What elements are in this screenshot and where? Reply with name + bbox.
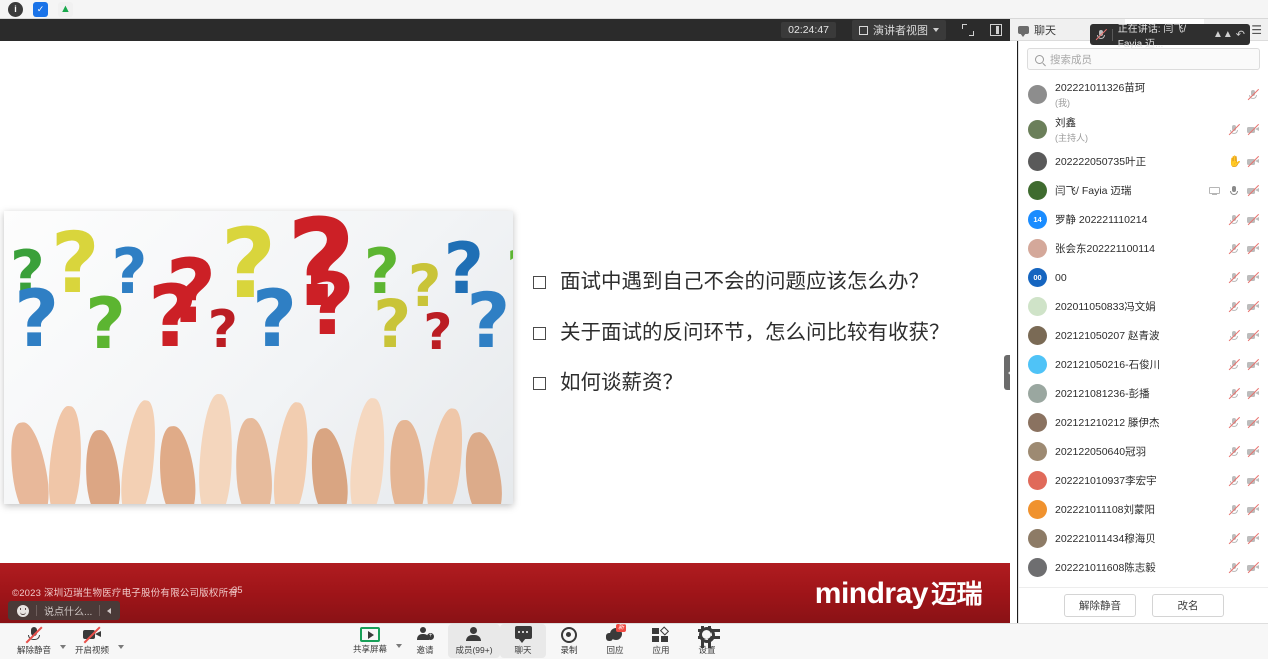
participant-row[interactable]: 202221011608陈志毅	[1019, 553, 1268, 582]
back-arrow-icon[interactable]: ↶	[1236, 28, 1245, 41]
camera-off-icon[interactable]	[1247, 330, 1259, 342]
avatar	[1028, 529, 1047, 548]
signal-bars-icon[interactable]: ▲	[58, 2, 73, 17]
search-placeholder: 搜索成员	[1050, 52, 1092, 67]
search-icon	[1035, 55, 1044, 64]
reaction-icon: 新	[606, 627, 624, 643]
search-participants-input[interactable]: 搜索成员	[1027, 48, 1260, 70]
participant-row[interactable]: 刘鑫(主持人)	[1019, 112, 1268, 147]
participant-row[interactable]: 闫飞/ Fayia 迈瑞	[1019, 176, 1268, 205]
raise-hand-icon[interactable]: ✋	[1228, 156, 1240, 168]
participant-status-icons	[1228, 214, 1259, 226]
fullscreen-button[interactable]	[954, 21, 982, 39]
avatar	[1028, 152, 1047, 171]
emoji-button[interactable]	[10, 601, 36, 620]
participant-name: 闫飞/ Fayia 迈瑞	[1055, 183, 1201, 198]
meeting-timer: 02:24:47	[773, 21, 844, 39]
participant-name: 202221011326苗珂	[1055, 80, 1239, 95]
camera-off-icon[interactable]	[1247, 359, 1259, 371]
view-mode-icon	[859, 26, 868, 35]
avatar	[1028, 558, 1047, 577]
participant-status-icons	[1228, 124, 1259, 136]
logo-cn-text: 迈瑞	[931, 574, 982, 611]
participant-row[interactable]: 202011050833冯文娟	[1019, 292, 1268, 321]
toolbar-center-group: 共享屏幕 + 邀请 成员(99+) 聊天 录制 新	[344, 624, 730, 658]
bullet-item: 面试中遇到自己不会的问题应该怎么办？	[533, 269, 983, 295]
chat-icon	[515, 626, 532, 639]
mic-muted-icon[interactable]	[1228, 533, 1240, 545]
timer-value: 02:24:47	[781, 22, 836, 38]
participant-row[interactable]: 202121050216-石俊川	[1019, 350, 1268, 379]
participant-row[interactable]: 202121210212 滕伊杰	[1019, 408, 1268, 437]
tab-chat[interactable]: 聊天	[1010, 19, 1064, 41]
camera-off-icon[interactable]	[1247, 243, 1259, 255]
participant-info: 202011050833冯文娟	[1055, 299, 1220, 314]
camera-off-icon[interactable]	[1247, 562, 1259, 574]
avatar	[1028, 471, 1047, 490]
participant-name: 202121210212 滕伊杰	[1055, 415, 1220, 430]
participant-status-icons	[1228, 504, 1259, 516]
participant-role: (主持人)	[1055, 131, 1220, 144]
rename-button[interactable]: 改名	[1152, 594, 1224, 617]
participant-info: 202221011108刘蒙阳	[1055, 502, 1220, 517]
slide-footer: ©2023 深圳迈瑞生物医疗电子股份有限公司版权所有 35 mindray 迈瑞	[0, 563, 1010, 623]
new-badge: 新	[616, 624, 626, 632]
camera-off-icon[interactable]	[1247, 214, 1259, 226]
participant-status-icons	[1228, 272, 1259, 284]
slide-page-number: 35	[232, 585, 243, 596]
expand-icon	[962, 24, 974, 36]
participants-panel: 搜索成员 202221011326苗珂(我)刘鑫(主持人)20222205073…	[1018, 41, 1268, 623]
settings-gear-icon	[698, 627, 716, 643]
participant-status-icons	[1228, 562, 1259, 574]
view-mode-label: 演讲者视图	[873, 22, 928, 38]
meeting-toolbar: 解除静音 开启视频 共享屏幕 + 邀请 成员(99+)	[0, 623, 1268, 659]
share-screen-icon[interactable]	[1209, 185, 1221, 197]
participant-row[interactable]: 14罗静 202221110214	[1019, 205, 1268, 234]
camera-off-icon[interactable]	[1247, 185, 1259, 197]
avatar	[1028, 326, 1047, 345]
record-label: 录制	[560, 644, 577, 656]
split-view-icon	[990, 24, 1002, 36]
avatar	[1028, 355, 1047, 374]
bullet-item: 如何谈薪资？	[533, 370, 983, 396]
video-toggle-button[interactable]: 开启视频	[66, 625, 118, 659]
avatar	[1028, 384, 1047, 403]
active-speaker-banner: 正在讲话: 闫飞/ Fayia 迈... ▲▲ ↶	[1090, 24, 1250, 45]
participant-name: 202221011108刘蒙阳	[1055, 502, 1220, 517]
participant-info: 202221011434穆海贝	[1055, 531, 1220, 546]
reaction-button[interactable]: 新 回应	[592, 624, 638, 658]
participant-name: 张会东202221100114	[1055, 241, 1220, 256]
participant-name: 202222050735叶正	[1055, 154, 1220, 169]
participant-row[interactable]: 张会东202221100114	[1019, 234, 1268, 263]
camera-off-icon[interactable]	[1247, 446, 1259, 458]
share-screen-button[interactable]: 共享屏幕	[344, 624, 396, 658]
camera-off-icon[interactable]	[1247, 156, 1259, 168]
avatar	[1028, 181, 1047, 200]
mic-muted-icon[interactable]	[1247, 89, 1259, 101]
participant-name: 00	[1055, 272, 1220, 284]
participant-role: (我)	[1055, 96, 1239, 109]
participant-status-icons	[1228, 243, 1259, 255]
chevron-down-icon[interactable]	[933, 28, 939, 32]
participant-name: 202121050216-石俊川	[1055, 357, 1220, 372]
avatar	[1028, 85, 1047, 104]
participant-info: 202221011608陈志毅	[1055, 560, 1220, 575]
participant-info: 罗静 202221110214	[1055, 212, 1220, 227]
bullet-text: 关于面试的反问环节，怎么问比较有收获？	[560, 320, 950, 346]
avatar: 00	[1028, 268, 1047, 287]
mic-muted-icon[interactable]	[1228, 388, 1240, 400]
mic-muted-icon[interactable]	[1228, 330, 1240, 342]
participant-name: 202221011434穆海贝	[1055, 531, 1220, 546]
smiley-icon	[17, 605, 29, 617]
participant-name: 202221010937李宏宇	[1055, 473, 1220, 488]
participant-info: 202221011326苗珂(我)	[1055, 80, 1239, 109]
participant-info: 202121210212 滕伊杰	[1055, 415, 1220, 430]
participant-status-icons	[1228, 446, 1259, 458]
participant-row[interactable]: 202221011326苗珂(我)	[1019, 77, 1268, 112]
mic-muted-icon[interactable]	[1228, 417, 1240, 429]
toolbar-left-group: 解除静音 开启视频	[0, 625, 124, 659]
video-options-chevron-down-icon[interactable]	[118, 645, 124, 649]
record-icon	[561, 627, 577, 643]
participant-name: 202221011608陈志毅	[1055, 560, 1220, 575]
split-view-button[interactable]	[982, 21, 1010, 39]
camera-off-icon[interactable]	[1247, 504, 1259, 516]
mic-muted-icon[interactable]	[1228, 504, 1240, 516]
mic-muted-icon[interactable]	[1228, 272, 1240, 284]
mic-muted-icon[interactable]	[1228, 475, 1240, 487]
bullet-text: 面试中遇到自己不会的问题应该怎么办？	[560, 269, 929, 295]
participant-status-icons	[1228, 301, 1259, 313]
participant-row[interactable]: 202122050640冠羽	[1019, 437, 1268, 466]
comment-input-pill[interactable]: 说点什么...	[8, 601, 120, 620]
presentation-stage: ? ? ? ? ? ? ? ? ? ? ? ? ? ? ? ?	[0, 41, 1010, 623]
os-taskbar: i ✓ ▲	[0, 0, 1268, 19]
camera-off-icon[interactable]	[1247, 388, 1259, 400]
participant-name: 202121050207 赵青波	[1055, 328, 1220, 343]
participants-icon	[465, 627, 483, 643]
avatar	[1028, 413, 1047, 432]
participants-button[interactable]: 成员(99+)	[448, 624, 500, 658]
info-icon[interactable]: i	[8, 2, 23, 17]
camera-off-icon[interactable]	[1247, 272, 1259, 284]
chat-icon	[1018, 26, 1029, 34]
participant-name: 202011050833冯文娟	[1055, 299, 1220, 314]
comment-placeholder[interactable]: 说点什么...	[37, 601, 99, 620]
logo-en-text: mindray	[815, 577, 928, 611]
participant-status-icons	[1228, 359, 1259, 371]
avatar	[1028, 442, 1047, 461]
participant-status-icons: ✋	[1228, 156, 1259, 168]
participant-status-icons	[1228, 533, 1259, 545]
slide-bullet-list: 面试中遇到自己不会的问题应该怎么办？ 关于面试的反问环节，怎么问比较有收获？ 如…	[533, 269, 983, 421]
camera-off-icon[interactable]	[1247, 475, 1259, 487]
participant-status-icons	[1228, 475, 1259, 487]
participant-info: 张会东202221100114	[1055, 241, 1220, 256]
mute-toggle-label: 解除静音	[17, 644, 51, 656]
avatar: 14	[1028, 210, 1047, 229]
avatar	[1028, 500, 1047, 519]
mic-muted-icon[interactable]	[1228, 124, 1240, 136]
checkbox-square-icon	[533, 377, 546, 390]
panel-action-bar: 解除静音 改名	[1019, 587, 1268, 623]
participant-info: 00	[1055, 272, 1220, 284]
chat-button[interactable]: 聊天	[500, 624, 546, 658]
shield-icon[interactable]: ✓	[33, 2, 48, 17]
participant-row[interactable]: 202221010937李宏宇	[1019, 466, 1268, 495]
question-marks-image: ? ? ? ? ? ? ? ? ? ? ? ? ? ? ? ?	[4, 211, 513, 504]
share-screen-icon	[360, 627, 380, 642]
chat-label: 聊天	[514, 644, 531, 656]
video-toggle-label: 开启视频	[75, 644, 109, 656]
camera-off-icon[interactable]	[1247, 533, 1259, 545]
collapse-comment-button[interactable]	[100, 601, 118, 620]
settings-button[interactable]: 设置	[684, 624, 730, 658]
mic-muted-icon[interactable]	[1228, 243, 1240, 255]
participant-status-icons	[1209, 185, 1259, 197]
reaction-label: 回应	[606, 644, 623, 656]
bullet-text: 如何谈薪资？	[560, 370, 683, 396]
toolbar-right-group: 离开会议	[1010, 624, 1268, 659]
invite-label: 邀请	[416, 644, 433, 656]
camera-off-icon	[83, 627, 101, 643]
participant-name: 202122050640冠羽	[1055, 444, 1220, 459]
bullet-item: 关于面试的反问环节，怎么问比较有收获？	[533, 320, 983, 346]
participant-row[interactable]: 202221011108刘蒙阳	[1019, 495, 1268, 524]
checkbox-square-icon	[533, 276, 546, 289]
mic-muted-icon[interactable]	[1228, 301, 1240, 313]
mic-muted-icon[interactable]	[1228, 562, 1240, 574]
participant-info: 刘鑫(主持人)	[1055, 115, 1220, 144]
participant-name: 202121081236-彭播	[1055, 386, 1220, 401]
participant-name: 罗静 202221110214	[1055, 212, 1220, 227]
chevron-left-icon	[107, 608, 111, 614]
participant-info: 闫飞/ Fayia 迈瑞	[1055, 183, 1201, 198]
participant-status-icons	[1228, 330, 1259, 342]
participant-list[interactable]: 202221011326苗珂(我)刘鑫(主持人)202222050735叶正✋闫…	[1019, 77, 1268, 589]
mindray-logo: mindray 迈瑞	[815, 574, 982, 611]
mic-muted-icon	[1095, 29, 1107, 41]
participant-row[interactable]: 0000	[1019, 263, 1268, 292]
unmute-button[interactable]: 解除静音	[1064, 594, 1136, 617]
mic-on-icon[interactable]	[1228, 185, 1240, 197]
apps-button[interactable]: 应用	[638, 624, 684, 658]
participant-info: 202122050640冠羽	[1055, 444, 1220, 459]
active-speaker-text: 正在讲话: 闫飞/ Fayia 迈...	[1118, 20, 1208, 50]
participant-info: 202121050207 赵青波	[1055, 328, 1220, 343]
participant-info: 202121081236-彭播	[1055, 386, 1220, 401]
camera-off-icon[interactable]	[1247, 301, 1259, 313]
copyright-text: ©2023 深圳迈瑞生物医疗电子股份有限公司版权所有	[12, 585, 238, 599]
participant-name: 刘鑫	[1055, 115, 1220, 130]
shared-slide: ? ? ? ? ? ? ? ? ? ? ? ? ? ? ? ?	[0, 41, 1010, 623]
participants-label: 成员(99+)	[455, 644, 492, 656]
mic-muted-icon[interactable]	[1228, 446, 1240, 458]
participant-row[interactable]: 202222050735叶正✋	[1019, 147, 1268, 176]
mute-toggle-button[interactable]: 解除静音	[8, 625, 60, 659]
participant-info: 202121050216-石俊川	[1055, 357, 1220, 372]
checkbox-square-icon	[533, 327, 546, 340]
participant-status-icons	[1247, 89, 1259, 101]
raised-hands-illustration	[4, 364, 513, 504]
mic-muted-icon[interactable]	[1228, 359, 1240, 371]
avatar	[1028, 239, 1047, 258]
participant-info: 202222050735叶正	[1055, 154, 1220, 169]
mic-muted-icon[interactable]	[1228, 214, 1240, 226]
mic-muted-icon	[25, 627, 43, 643]
meeting-titlebar: 02:24:47 演讲者视图	[0, 19, 1010, 41]
participant-row[interactable]: 202121081236-彭播	[1019, 379, 1268, 408]
view-mode-selector[interactable]: 演讲者视图	[844, 21, 954, 39]
share-screen-label: 共享屏幕	[353, 643, 387, 655]
apps-label: 应用	[652, 644, 669, 656]
avatar	[1028, 297, 1047, 316]
record-button[interactable]: 录制	[546, 624, 592, 658]
participant-status-icons	[1228, 388, 1259, 400]
double-chevron-up-icon[interactable]: ▲▲	[1213, 29, 1233, 40]
participant-status-icons	[1228, 417, 1259, 429]
camera-off-icon[interactable]	[1247, 417, 1259, 429]
avatar	[1028, 120, 1047, 139]
invite-button[interactable]: + 邀请	[402, 624, 448, 658]
tab-chat-label: 聊天	[1034, 22, 1056, 38]
participant-info: 202221010937李宏宇	[1055, 473, 1220, 488]
participant-row[interactable]: 202121050207 赵青波	[1019, 321, 1268, 350]
apps-icon	[652, 627, 670, 643]
participant-row[interactable]: 202221011434穆海贝	[1019, 524, 1268, 553]
camera-off-icon[interactable]	[1247, 124, 1259, 136]
invite-icon: +	[416, 627, 434, 643]
